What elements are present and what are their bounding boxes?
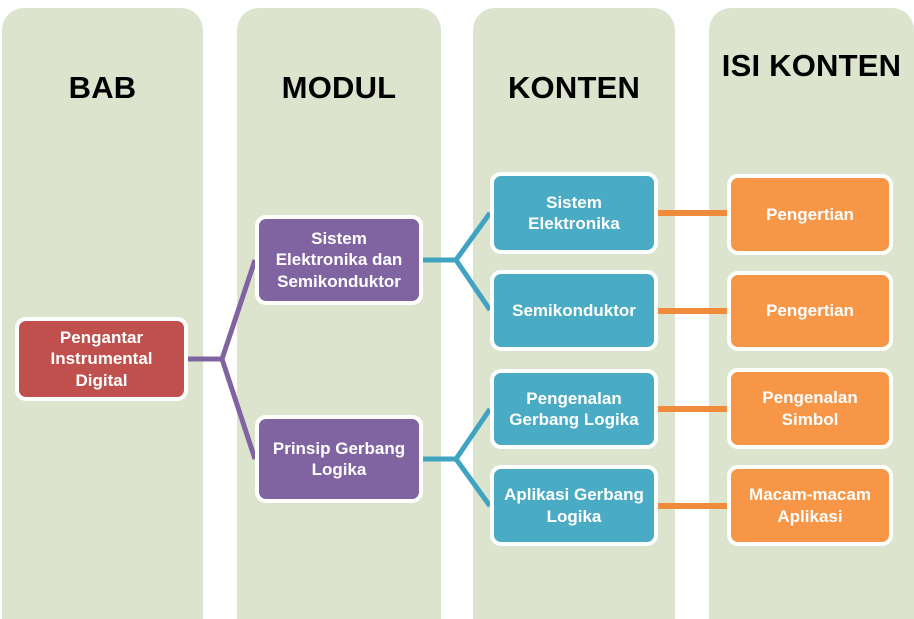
node-aplikasi-gerbang-logika[interactable]: Aplikasi Gerbang Logika <box>490 465 658 546</box>
node-semikonduktor[interactable]: Semikonduktor <box>490 270 658 351</box>
column-title-isi-konten: ISI KONTEN <box>709 46 914 86</box>
column-panel-bab: BAB <box>2 8 203 619</box>
node-pengertian-semikonduktor[interactable]: Pengertian <box>727 271 893 351</box>
column-title-modul: MODUL <box>237 68 441 108</box>
column-title-bab: BAB <box>2 68 203 108</box>
diagram-canvas: BABMODULKONTENISI KONTEN Pengantar Instr… <box>0 0 914 619</box>
node-sistem-elektronika[interactable]: Sistem Elektronika <box>490 172 658 254</box>
node-pengenalan-gerbang-logika[interactable]: Pengenalan Gerbang Logika <box>490 369 658 449</box>
column-title-konten: KONTEN <box>473 68 675 108</box>
column-panel-modul: MODUL <box>237 8 441 619</box>
node-pengertian-sistem-elektronika[interactable]: Pengertian <box>727 174 893 255</box>
node-pengantar-instrumental-digital[interactable]: Pengantar Instrumental Digital <box>15 317 188 401</box>
node-pengenalan-simbol[interactable]: Pengenalan Simbol <box>727 368 893 449</box>
node-macam-macam-aplikasi[interactable]: Macam-macam Aplikasi <box>727 465 893 546</box>
node-prinsip-gerbang-logika[interactable]: Prinsip Gerbang Logika <box>255 415 423 503</box>
node-sistem-elektronika-dan-semikonduktor[interactable]: Sistem Elektronika dan Semikonduktor <box>255 215 423 305</box>
